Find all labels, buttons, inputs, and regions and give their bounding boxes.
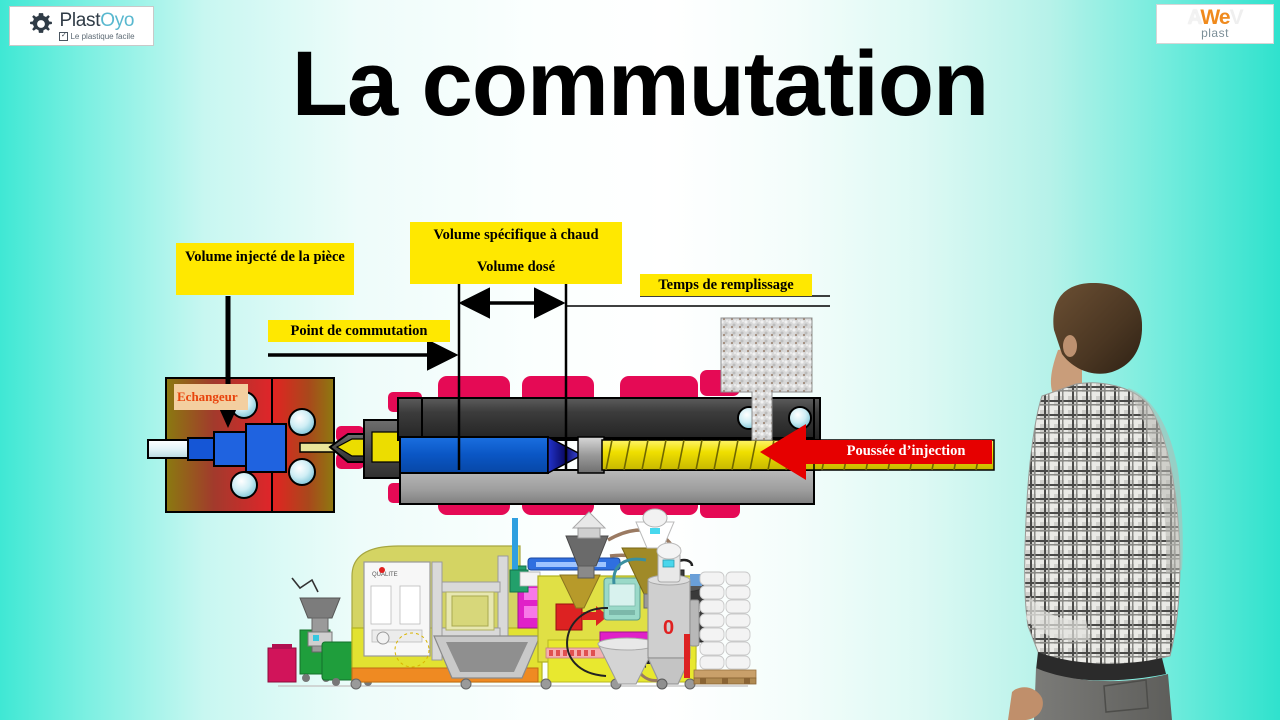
temps-remplissage-line	[566, 296, 830, 306]
label-volume-dose: Volume dosé	[455, 258, 577, 280]
label-poussee-injection: Poussée d’injection	[822, 439, 990, 463]
slide-canvas: PlastOyo ✓ Le plastique facile AWeV plas…	[0, 0, 1280, 720]
pallet-of-bags	[694, 572, 756, 684]
svg-text:QUALITE: QUALITE	[372, 572, 398, 578]
label-volume-injecte: Volume injecté de la pièce	[176, 243, 354, 295]
injection-molding-diagram: QUALITE	[0, 0, 1280, 720]
injection-molding-machine-illustration: QUALITE	[268, 509, 756, 689]
label-point-commutation: Point de commutation	[268, 320, 450, 342]
presenter-photo	[1008, 283, 1183, 720]
label-echangeur: Echangeur	[174, 384, 248, 410]
silo-marking: 0	[663, 617, 674, 639]
label-temps-remplissage: Temps de remplissage	[640, 274, 812, 296]
